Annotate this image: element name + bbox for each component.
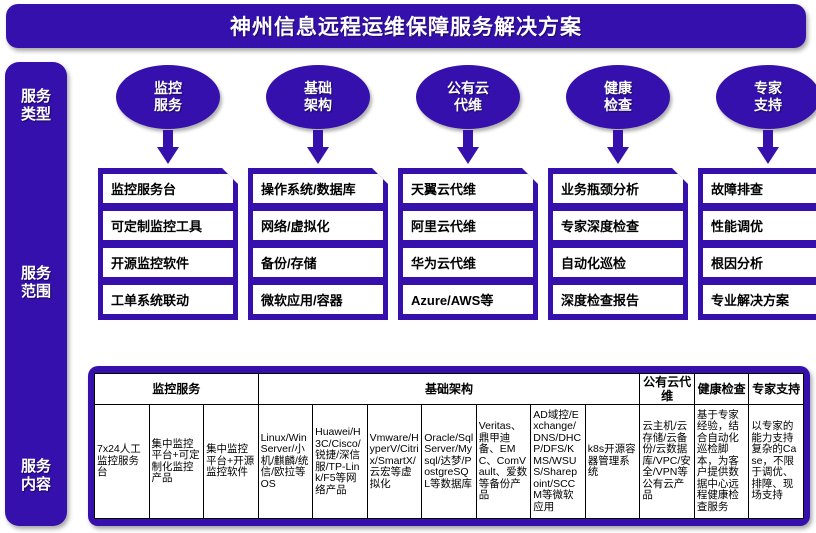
sidebar-item-service-content-line2: 内容 [5, 476, 67, 494]
service-scope-item[interactable]: 故障排查 [703, 174, 816, 203]
service-type-label-1: 监控服务 [154, 80, 182, 114]
service-type-label-5: 专家支持 [754, 80, 782, 114]
table-cell: AD域控/Exchange/DNS/DHCP/DFS/KMS/WSUS/Shar… [531, 405, 586, 519]
sidebar-item-service-content-line1: 服务 [5, 458, 67, 476]
service-scope-panel-5: 故障排查性能调优根因分析专业解决方案 [698, 168, 816, 320]
table-group-header: 监控服务 [95, 374, 259, 405]
sidebar-item-service-scope: 服务 范围 [5, 265, 67, 301]
service-scope-item[interactable]: 可定制监控工具 [103, 211, 233, 240]
service-scope-item-label: 专家深度检查 [561, 216, 639, 235]
down-arrow-icon-2 [307, 130, 329, 164]
service-scope-panel-3: 天翼云代维阿里云代维华为云代维Azure/AWS等 [398, 168, 538, 320]
service-scope-item-label: 微软应用/容器 [261, 290, 343, 309]
down-arrow-icon-5 [757, 130, 779, 164]
service-scope-item-label: 业务瓶颈分析 [561, 179, 639, 198]
service-scope-panel-4: 业务瓶颈分析专家深度检查自动化巡检深度检查报告 [548, 168, 688, 320]
table-cell: 7x24人工监控服务台 [95, 405, 150, 519]
service-scope-item[interactable]: 专家深度检查 [553, 211, 683, 240]
service-scope-item-label: 根因分析 [711, 253, 763, 272]
table-cell: Veritas、鼎甲迪备、EMC、ComVault、爱数等备份产品 [476, 405, 531, 519]
table-cell: 集中监控平台+开源监控软件 [204, 405, 259, 519]
service-scope-item-label: 故障排查 [711, 179, 763, 198]
service-scope-item-label: 专业解决方案 [711, 290, 789, 309]
service-scope-item-label: 监控服务台 [111, 179, 176, 198]
down-arrow-icon-4 [607, 130, 629, 164]
service-scope-item[interactable]: 华为云代维 [403, 248, 533, 277]
sidebar-item-service-scope-line1: 服务 [5, 265, 67, 283]
category-sidebar: 服务 类型 服务 范围 服务 内容 [5, 62, 67, 526]
diagram-canvas: 神州信息远程运维保障服务解决方案 服务 类型 服务 范围 服务 内容 监控服务监… [0, 0, 816, 533]
sidebar-item-service-type: 服务 类型 [5, 88, 67, 124]
service-scope-item-label: 阿里云代维 [411, 216, 476, 235]
service-scope-item-label: 华为云代维 [411, 253, 476, 272]
table-cell: 云主机/云存储/云备份/云数据库/VPC/安全/VPN等公有云产品 [640, 405, 695, 519]
service-scope-item[interactable]: 阿里云代维 [403, 211, 533, 240]
down-arrow-icon-1 [157, 130, 179, 164]
table-cell: Linux/WinServer/小机/麒麟/统信/欧拉等OS [258, 405, 313, 519]
service-scope-item[interactable]: Azure/AWS等 [403, 285, 533, 314]
service-scope-item-label: 自动化巡检 [561, 253, 626, 272]
table-cell: 以专家的能力支持复杂的Case，不限于调优、排障、现场支持 [749, 405, 804, 519]
service-scope-item[interactable]: 根因分析 [703, 248, 816, 277]
service-scope-item[interactable]: 工单系统联动 [103, 285, 233, 314]
service-scope-item-label: 备份/存储 [261, 253, 317, 272]
table-cell: 集中监控平台+可定制化监控产品 [149, 405, 204, 519]
table-group-header: 专家支持 [749, 374, 804, 405]
service-scope-item[interactable]: 操作系统/数据库 [253, 174, 383, 203]
down-arrow-icon-3 [457, 130, 479, 164]
service-content-panel: 监控服务基础架构公有云代维健康检查专家支持 7x24人工监控服务台集中监控平台+… [88, 366, 810, 526]
service-type-ellipse-1[interactable]: 监控服务 [116, 65, 220, 129]
service-scope-item-label: 性能调优 [711, 216, 763, 235]
service-content-table: 监控服务基础架构公有云代维健康检查专家支持 7x24人工监控服务台集中监控平台+… [94, 373, 804, 519]
table-header-row: 监控服务基础架构公有云代维健康检查专家支持 [95, 374, 804, 405]
service-scope-item[interactable]: 开源监控软件 [103, 248, 233, 277]
sidebar-item-service-type-line2: 类型 [5, 106, 67, 124]
service-scope-item-label: 开源监控软件 [111, 253, 189, 272]
sidebar-item-service-scope-line2: 范围 [5, 283, 67, 301]
service-scope-item-label: 天翼云代维 [411, 179, 476, 198]
service-scope-item[interactable]: 性能调优 [703, 211, 816, 240]
sidebar-item-service-content: 服务 内容 [5, 458, 67, 494]
table-cell: Huawei/H3C/Cisco/锐捷/深信服/TP-Link/F5等网络产品 [313, 405, 368, 519]
table-group-header: 公有云代维 [640, 374, 695, 405]
service-scope-panel-1: 监控服务台可定制监控工具开源监控软件工单系统联动 [98, 168, 238, 320]
service-scope-panel-2: 操作系统/数据库网络/虚拟化备份/存储微软应用/容器 [248, 168, 388, 320]
service-scope-item[interactable]: 深度检查报告 [553, 285, 683, 314]
service-type-ellipse-3[interactable]: 公有云代维 [416, 65, 520, 129]
service-scope-item-label: Azure/AWS等 [411, 290, 493, 309]
service-scope-item[interactable]: 监控服务台 [103, 174, 233, 203]
service-type-label-4: 健康检查 [604, 80, 632, 114]
service-scope-item[interactable]: 网络/虚拟化 [253, 211, 383, 240]
sidebar-item-service-type-line1: 服务 [5, 88, 67, 106]
service-type-label-3: 公有云代维 [447, 80, 489, 114]
service-scope-item[interactable]: 备份/存储 [253, 248, 383, 277]
service-type-ellipse-2[interactable]: 基础架构 [266, 65, 370, 129]
page-title-bar: 神州信息远程运维保障服务解决方案 [6, 4, 806, 48]
table-group-header: 健康检查 [694, 374, 749, 405]
service-type-ellipse-4[interactable]: 健康检查 [566, 65, 670, 129]
service-scope-item-label: 可定制监控工具 [111, 216, 202, 235]
service-type-ellipse-5[interactable]: 专家支持 [716, 65, 816, 129]
table-cell: 基于专家经验，结合自动化巡检脚本，为客户提供数据中心远程健康检查服务 [694, 405, 749, 519]
table-cell: k8s开源容器管理系统 [585, 405, 640, 519]
service-scope-item-label: 操作系统/数据库 [261, 179, 356, 198]
service-scope-item-label: 工单系统联动 [111, 290, 189, 309]
table-cell: Oracle/SqlServer/Mysql/达梦/PostgreSQL等数据库 [422, 405, 477, 519]
service-scope-item[interactable]: 天翼云代维 [403, 174, 533, 203]
service-type-label-2: 基础架构 [304, 80, 332, 114]
service-scope-item[interactable]: 业务瓶颈分析 [553, 174, 683, 203]
service-scope-item[interactable]: 专业解决方案 [703, 285, 816, 314]
page-title: 神州信息远程运维保障服务解决方案 [230, 11, 582, 41]
table-row: 7x24人工监控服务台集中监控平台+可定制化监控产品集中监控平台+开源监控软件L… [95, 405, 804, 519]
service-scope-item-label: 深度检查报告 [561, 290, 639, 309]
table-group-header: 基础架构 [258, 374, 640, 405]
service-scope-item[interactable]: 微软应用/容器 [253, 285, 383, 314]
service-scope-item-label: 网络/虚拟化 [261, 216, 330, 235]
service-scope-item[interactable]: 自动化巡检 [553, 248, 683, 277]
table-cell: Vmware/HyperV/Citrix/SmartX/云宏等虚拟化 [367, 405, 422, 519]
